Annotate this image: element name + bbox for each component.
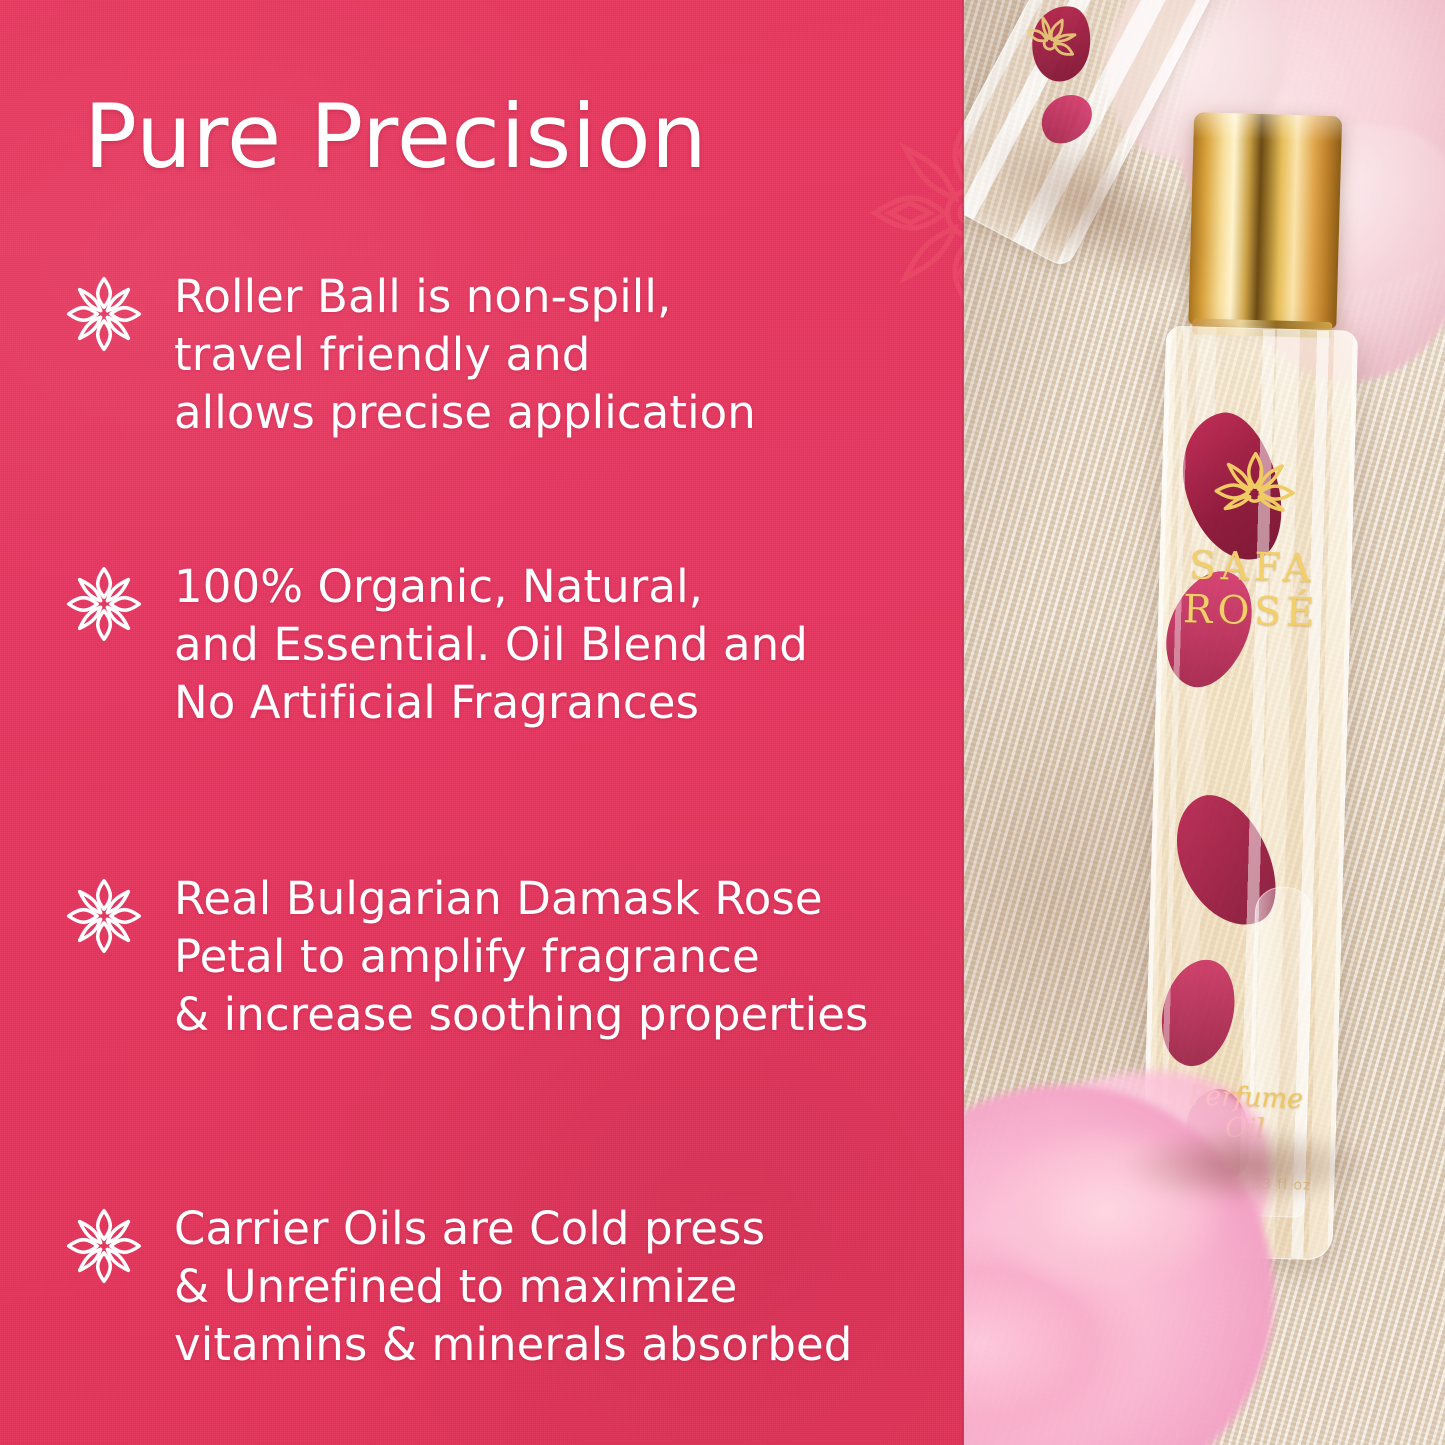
list-item-label: 100% Organic, Natural, and Essential. Oi… bbox=[174, 558, 964, 732]
product-photo: SAFA ROSÉ Perfume Oil 10 ml / 0.33 fl oz bbox=[964, 0, 1445, 1445]
floral-ornament-bullet-icon bbox=[62, 562, 146, 646]
list-item: 100% Organic, Natural, and Essential. Oi… bbox=[0, 558, 964, 870]
feature-list: Roller Ball is non-spill, travel friendl… bbox=[0, 268, 964, 1440]
list-item: Carrier Oils are Cold press & Unrefined … bbox=[0, 1200, 964, 1440]
page-title: Pure Precision bbox=[84, 92, 707, 182]
bottle-shadow bbox=[1124, 1128, 1374, 1204]
list-item-label: Roller Ball is non-spill, travel friendl… bbox=[174, 268, 964, 442]
floral-ornament-bullet-icon bbox=[62, 874, 146, 958]
product-feature-graphic: Pure Precision bbox=[0, 0, 1445, 1445]
gold-cap bbox=[1188, 112, 1342, 328]
list-item: Real Bulgarian Damask Rose Petal to ampl… bbox=[0, 870, 964, 1200]
list-item: Roller Ball is non-spill, travel friendl… bbox=[0, 268, 964, 558]
floral-ornament-bullet-icon bbox=[62, 272, 146, 356]
list-item-label: Real Bulgarian Damask Rose Petal to ampl… bbox=[174, 870, 964, 1044]
floral-ornament-bullet-icon bbox=[62, 1204, 146, 1288]
list-item-label: Carrier Oils are Cold press & Unrefined … bbox=[174, 1200, 964, 1374]
